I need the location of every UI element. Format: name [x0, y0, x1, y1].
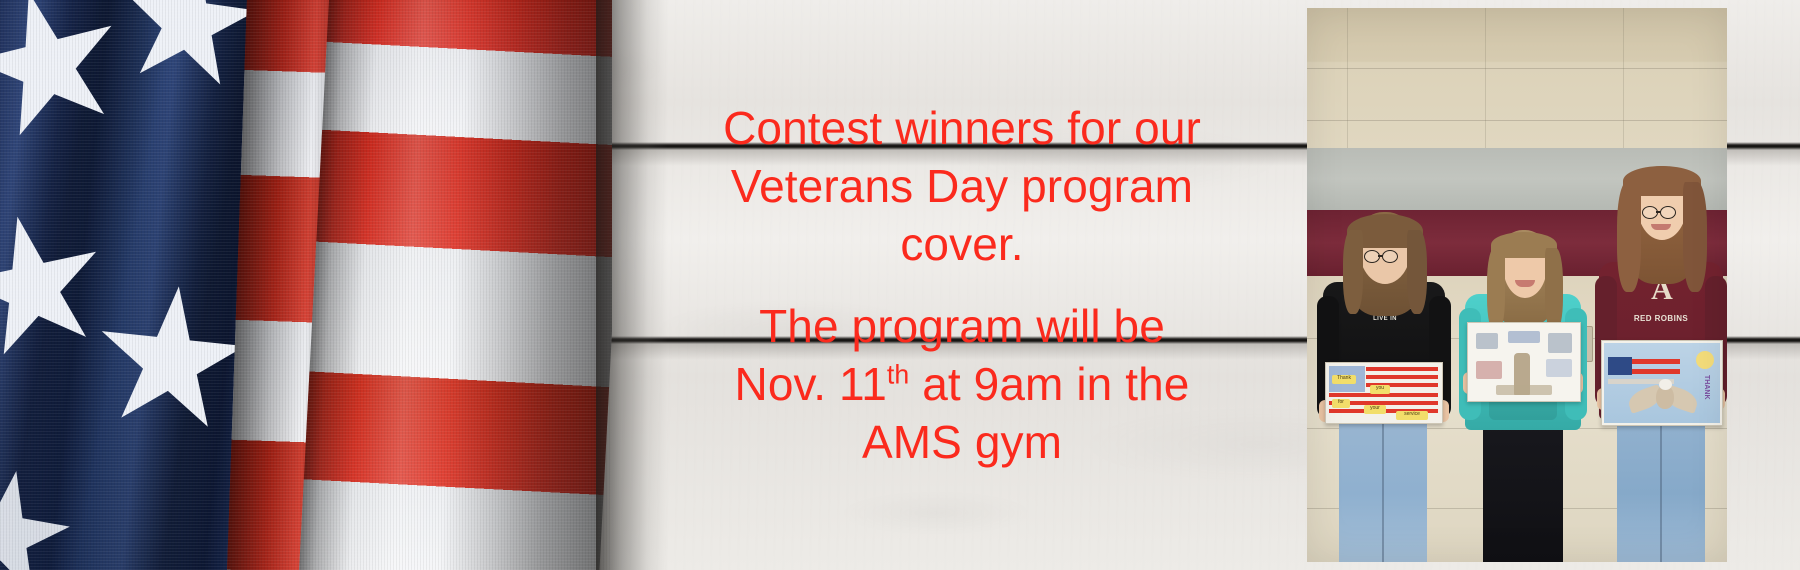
poster-3-flag-canton — [1608, 357, 1632, 375]
student-left: BACK IN BLACK LIVE IN — [1317, 204, 1453, 562]
poster-2-sketch — [1546, 359, 1572, 377]
student-center-hair-side-r — [1545, 248, 1563, 332]
student-right-poster: THANK — [1601, 340, 1723, 426]
announcement-line-1: Contest winners for our — [723, 102, 1201, 154]
student-left-jeans-seam — [1382, 410, 1384, 562]
announcement-line-2: Veterans Day program — [731, 160, 1193, 212]
student-left-hair-side-r — [1407, 230, 1427, 314]
announcement-line-3: cover. — [900, 218, 1023, 270]
student-right-glasses-icon — [1642, 206, 1686, 218]
student-right-hair-side-r — [1683, 182, 1707, 292]
poster-3-thank-text: THANK — [1702, 375, 1710, 400]
photo-wall-block-joint — [1485, 8, 1486, 148]
poster-1-stripe — [1366, 375, 1438, 379]
announcement-date-prefix: Nov. 11 — [735, 358, 887, 410]
announcement-line-6: AMS gym — [862, 416, 1062, 468]
poster-2-sketch — [1476, 361, 1502, 379]
announcement-date-ordinal-suffix: th — [887, 360, 909, 390]
student-right-hair-side-l — [1617, 182, 1641, 292]
poster-3-sun-icon — [1696, 351, 1714, 369]
poster-2-sketch — [1508, 331, 1540, 343]
student-left-poster: Thank you for your service — [1325, 362, 1443, 424]
photo-wall-block-joint — [1347, 8, 1348, 148]
poster-2-sketch — [1548, 333, 1572, 353]
photo-wall-block-seam — [1307, 68, 1727, 69]
poster-1-word-for: for — [1332, 399, 1350, 408]
poster-1-word-thank: Thank — [1332, 375, 1356, 384]
flag-stripe-fold-outer-shading — [298, 0, 612, 570]
student-center-poster — [1467, 322, 1581, 402]
poster-1-stripe — [1366, 367, 1438, 371]
student-right-smile — [1651, 224, 1671, 230]
student-center — [1459, 230, 1587, 562]
announcement-time-location: at 9am in the — [909, 358, 1189, 410]
contest-winners-photo: BACK IN BLACK LIVE IN — [1307, 8, 1727, 562]
poster-1-word-you: you — [1370, 385, 1390, 394]
student-center-pants — [1483, 420, 1563, 562]
announcement-paragraph-1: Contest winners for our Veterans Day pro… — [642, 99, 1282, 273]
student-center-hair-side-l — [1487, 248, 1505, 332]
veterans-day-banner: Contest winners for our Veterans Day pro… — [0, 0, 1800, 570]
student-left-glasses-icon — [1364, 250, 1408, 262]
student-right-jeans-seam — [1660, 410, 1662, 562]
student-right: A RED ROBINS — [1595, 166, 1727, 562]
announcement-line-4: The program will be — [759, 300, 1165, 352]
photo-wall-band-cream-top — [1307, 8, 1727, 148]
announcement-text: Contest winners for our Veterans Day pro… — [612, 0, 1312, 570]
poster-3-eagle-head — [1659, 379, 1672, 390]
poster-1-word-service: service — [1396, 411, 1428, 420]
photo-wall-block-seam — [1307, 120, 1727, 121]
poster-1-word-your: your — [1364, 405, 1386, 414]
photo-wall-block-joint — [1623, 8, 1624, 148]
poster-2-sketch — [1476, 333, 1498, 349]
student-left-hair-side-l — [1343, 230, 1363, 314]
announcement-paragraph-2: The program will be Nov. 11th at 9am in … — [642, 297, 1282, 471]
american-flag-image — [0, 0, 612, 570]
poster-2-sketch — [1496, 385, 1552, 395]
